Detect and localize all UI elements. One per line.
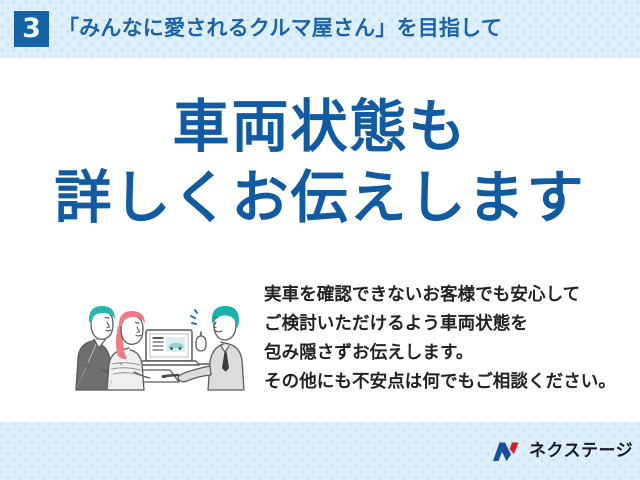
consultation-illustration bbox=[58, 272, 254, 398]
body-text-line-4: その他にも不安点は何でもご相談ください。 bbox=[264, 367, 616, 396]
nextage-logo: ネクステージ bbox=[492, 440, 626, 464]
content-row: 実車を確認できないお客様でも安心して ご検討いただけるよう車両状態を 包み隠さず… bbox=[0, 272, 640, 402]
body-text-line-3: 包み隠さずお伝えします。 bbox=[264, 338, 616, 367]
body-text: 実車を確認できないお客様でも安心して ご検討いただけるよう車両状態を 包み隠さず… bbox=[264, 280, 616, 396]
laptop-icon bbox=[139, 330, 199, 365]
nextage-n-mark-icon bbox=[492, 441, 524, 462]
illustration-svg bbox=[58, 272, 254, 398]
headline: 車両状態も 詳しくお伝えします bbox=[0, 92, 640, 234]
body-text-line-1: 実車を確認できないお客様でも安心して bbox=[264, 280, 616, 309]
body-text-line-2: ご検討いただけるよう車両状態を bbox=[264, 309, 616, 338]
step-number-badge: 3 bbox=[14, 11, 49, 47]
headline-line-2: 詳しくお伝えします bbox=[0, 162, 640, 234]
banner-root: 3 「みんなに愛されるクルマ屋さん」を目指して 車両状態も 詳しくお伝えします bbox=[0, 0, 640, 480]
headline-line-1: 車両状態も bbox=[0, 92, 640, 162]
header-title: 「みんなに愛されるクルマ屋さん」を目指して bbox=[58, 12, 502, 46]
nextage-logo-text: ネクステージ bbox=[529, 440, 633, 462]
